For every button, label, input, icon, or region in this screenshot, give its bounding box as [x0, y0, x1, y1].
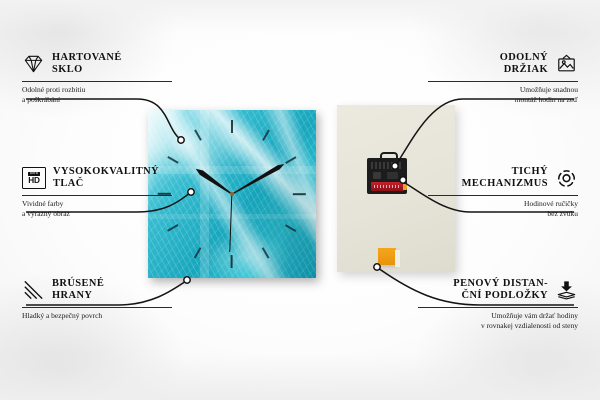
feature-title: ODOLNÝ DRŽIAK: [500, 52, 548, 77]
node-mechanism: [400, 177, 406, 183]
feature-ground-edges: BRÚSENÉ HRANY Hladký a bezpečný povrch: [22, 278, 172, 321]
feature-header: ultra HD VYSOKOKVALITNÝ TLAČ: [22, 166, 172, 191]
diamond-icon: [22, 54, 45, 74]
feature-description: Umožňuje snadnou montáž hodin na zeď: [428, 85, 578, 104]
feature-high-quality-print: ultra HD VYSOKOKVALITNÝ TLAČ Vividné far…: [22, 166, 172, 218]
picture-frame-hanger-icon: [555, 54, 578, 74]
feature-header: PENOVÝ DISTAN- ČNÍ PODLOŽKY: [418, 278, 578, 303]
feature-title: TICHÝ MECHANIZMUS: [462, 166, 548, 191]
node-tempered-glass: [178, 137, 184, 143]
feature-description: Umožňuje vám držať hodiny v rovnakej vzd…: [418, 311, 578, 330]
feature-divider: [22, 81, 172, 82]
feature-description: Hodinové ručičky bez zvuku: [428, 199, 578, 218]
wire-tempered-glass: [26, 99, 180, 139]
feature-description: Vividné farby a výrazný obraz: [22, 199, 172, 218]
feature-silent-mechanism: TICHÝ MECHANIZMUS Hodinové ručičky bez z…: [428, 166, 578, 218]
node-edges: [184, 277, 190, 283]
feature-title: PENOVÝ DISTAN- ČNÍ PODLOŽKY: [453, 278, 548, 303]
diagonal-lines-icon: [22, 280, 45, 300]
feature-title: VYSOKOKVALITNÝ TLAČ: [53, 166, 159, 191]
gear-icon: [555, 168, 578, 188]
feature-divider: [418, 307, 578, 308]
feature-durable-hanger: ODOLNÝ DRŽIAK Umožňuje snadnou montáž ho…: [428, 52, 578, 104]
feature-header: TICHÝ MECHANIZMUS: [428, 166, 578, 191]
node-foam: [374, 264, 380, 270]
feature-header: ODOLNÝ DRŽIAK: [428, 52, 578, 77]
wire-hanger: [396, 99, 574, 165]
infographic-canvas: HARTOVANÉ SKLO Odolné proti rozbitiu a p…: [0, 0, 600, 400]
feature-divider: [22, 195, 172, 196]
feature-header: BRÚSENÉ HRANY: [22, 278, 172, 303]
feature-divider: [22, 307, 172, 308]
feature-header: HARTOVANÉ SKLO: [22, 52, 172, 77]
feature-tempered-glass: HARTOVANÉ SKLO Odolné proti rozbitiu a p…: [22, 52, 172, 104]
feature-divider: [428, 195, 578, 196]
node-print: [188, 189, 194, 195]
feature-description: Hladký a bezpečný povrch: [22, 311, 172, 320]
node-hanger: [392, 163, 398, 169]
arrow-down-layers-icon: [555, 280, 578, 300]
feature-title: HARTOVANÉ SKLO: [52, 52, 122, 77]
feature-title: BRÚSENÉ HRANY: [52, 278, 104, 303]
feature-description: Odolné proti rozbitiu a poškrábání: [22, 85, 172, 104]
feature-foam-spacers: PENOVÝ DISTAN- ČNÍ PODLOŽKY Umožňuje vám…: [418, 278, 578, 330]
feature-divider: [428, 81, 578, 82]
ultra-hd-icon: ultra HD: [22, 167, 46, 189]
